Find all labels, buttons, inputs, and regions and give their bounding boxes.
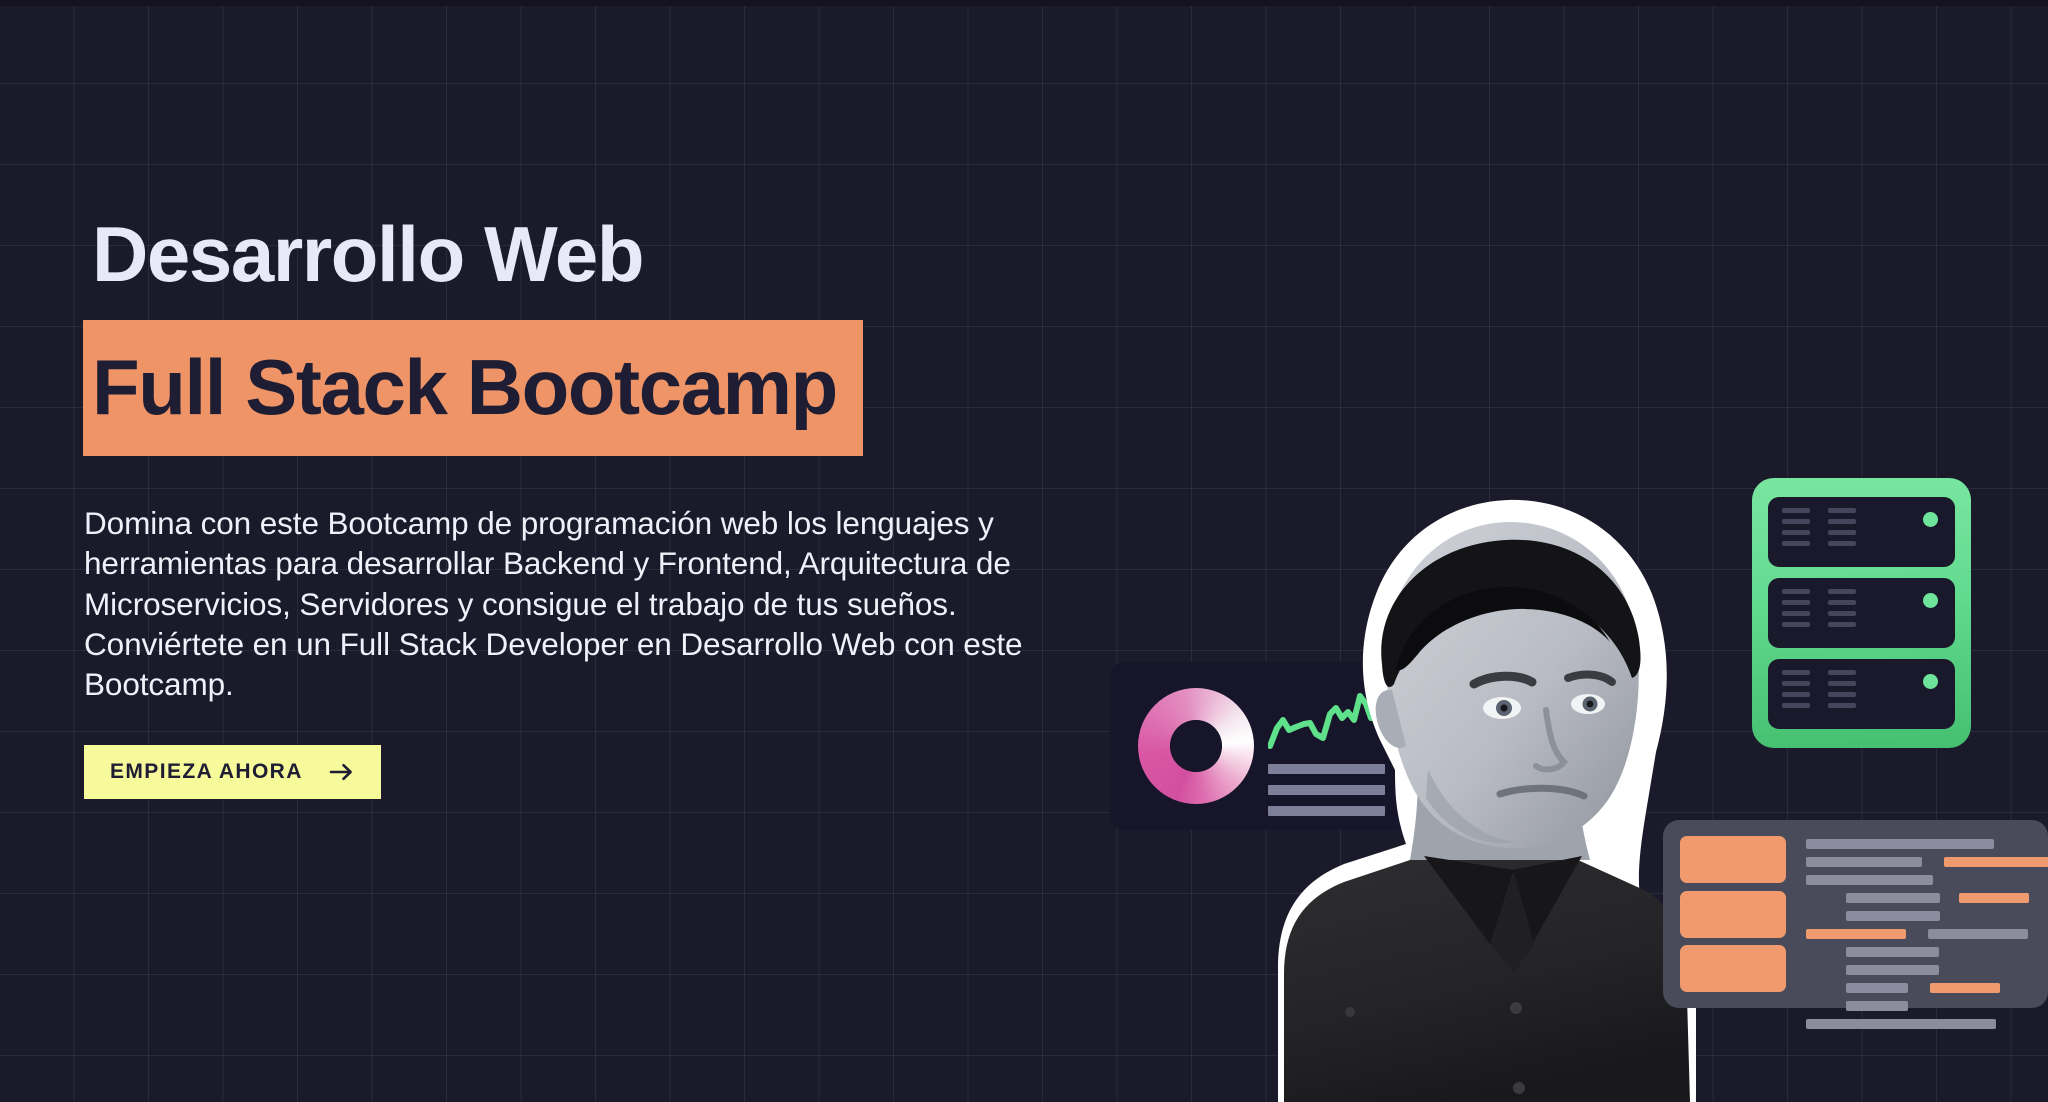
code-line-segment [1846, 983, 1908, 993]
server-line [1828, 670, 1856, 675]
server-line [1782, 508, 1810, 513]
server-line-column [1828, 589, 1856, 637]
code-line-segment [1806, 1019, 1996, 1029]
code-line-row [1806, 1001, 2048, 1011]
server-line-column [1828, 670, 1856, 718]
code-line-segment [1928, 929, 2028, 939]
server-line [1828, 530, 1856, 535]
code-line-segment [1806, 857, 1922, 867]
server-line [1828, 681, 1856, 686]
code-line-row [1806, 929, 2048, 939]
hero-copy: Desarrollo Web Full Stack Bootcamp Domin… [83, 215, 1143, 799]
server-line [1782, 681, 1810, 686]
code-line-segment [1846, 947, 1939, 957]
start-now-button[interactable]: EMPIEZA AHORA [84, 745, 381, 799]
server-line [1828, 622, 1856, 627]
code-line-segment [1806, 839, 1994, 849]
code-line-segment [1944, 857, 2048, 867]
server-line [1828, 703, 1856, 708]
code-line-segment [1806, 965, 1839, 975]
code-line-segment [1806, 983, 1839, 993]
code-line-segment [1806, 911, 1839, 921]
server-line [1828, 692, 1856, 697]
start-now-button-label: EMPIEZA AHORA [110, 760, 303, 784]
server-line-column [1782, 589, 1810, 637]
server-line [1782, 622, 1810, 627]
code-line-row [1806, 965, 2048, 975]
code-line-row [1806, 875, 2048, 885]
code-line-segment [1930, 983, 2000, 993]
server-line-column [1782, 508, 1810, 556]
code-line-segment [1929, 857, 1937, 867]
server-line [1828, 541, 1856, 546]
server-line [1782, 541, 1810, 546]
student-portrait [1278, 452, 1696, 1102]
code-line-row [1806, 1019, 2048, 1029]
editor-block [1680, 836, 1786, 883]
top-edge-shadow [0, 0, 2048, 6]
page-title-line-2-highlighted: Full Stack Bootcamp [83, 320, 863, 456]
code-line-segment [1846, 1001, 1908, 1011]
code-editor-illustration [1663, 820, 2048, 1008]
code-line-row [1806, 983, 2048, 993]
code-line-row [1806, 857, 2048, 867]
server-line [1782, 670, 1810, 675]
code-line-segment [1806, 893, 1839, 903]
page-title-line-1: Desarrollo Web [83, 215, 1143, 293]
online-indicator-icon [1923, 512, 1938, 527]
online-indicator-icon [1923, 674, 1938, 689]
code-line-row [1806, 893, 2048, 903]
code-line-segment [1846, 965, 1939, 975]
hero-description: Domina con este Bootcamp de programación… [83, 503, 1103, 705]
editor-code-lines [1806, 836, 2048, 992]
code-line-row [1806, 947, 2048, 957]
editor-block [1680, 891, 1786, 938]
server-line [1782, 611, 1810, 616]
server-line [1782, 600, 1810, 605]
code-line-row [1806, 911, 2048, 921]
server-line [1782, 692, 1810, 697]
code-line-segment [1846, 893, 1940, 903]
server-rack-illustration [1752, 478, 1971, 748]
hero-section: Desarrollo Web Full Stack Bootcamp Domin… [0, 0, 2048, 1102]
code-line-row [1806, 839, 2048, 849]
server-line [1828, 589, 1856, 594]
code-line-segment [1947, 893, 1952, 903]
online-indicator-icon [1923, 593, 1938, 608]
editor-block-column [1680, 836, 1786, 992]
headline-highlight-wrapper: Full Stack Bootcamp [83, 320, 1143, 456]
editor-block [1680, 945, 1786, 992]
server-line [1782, 589, 1810, 594]
server-line-column [1782, 670, 1810, 718]
server-line [1828, 600, 1856, 605]
server-unit [1768, 578, 1955, 648]
code-line-segment [1915, 983, 1923, 993]
server-line-column [1828, 508, 1856, 556]
server-line [1782, 703, 1810, 708]
code-line-segment [1806, 929, 1906, 939]
server-unit [1768, 659, 1955, 729]
donut-chart-icon [1138, 688, 1254, 804]
code-line-segment [1806, 947, 1839, 957]
server-line [1782, 519, 1810, 524]
code-line-segment [1806, 875, 1933, 885]
code-line-segment [1913, 929, 1921, 939]
code-line-segment [1806, 1001, 1839, 1011]
server-line [1782, 530, 1810, 535]
arrow-right-icon [329, 762, 355, 782]
server-unit [1768, 497, 1955, 567]
code-line-segment [1846, 911, 1940, 921]
server-line [1828, 611, 1856, 616]
server-line [1828, 519, 1856, 524]
server-line [1828, 508, 1856, 513]
code-line-segment [1959, 893, 2029, 903]
